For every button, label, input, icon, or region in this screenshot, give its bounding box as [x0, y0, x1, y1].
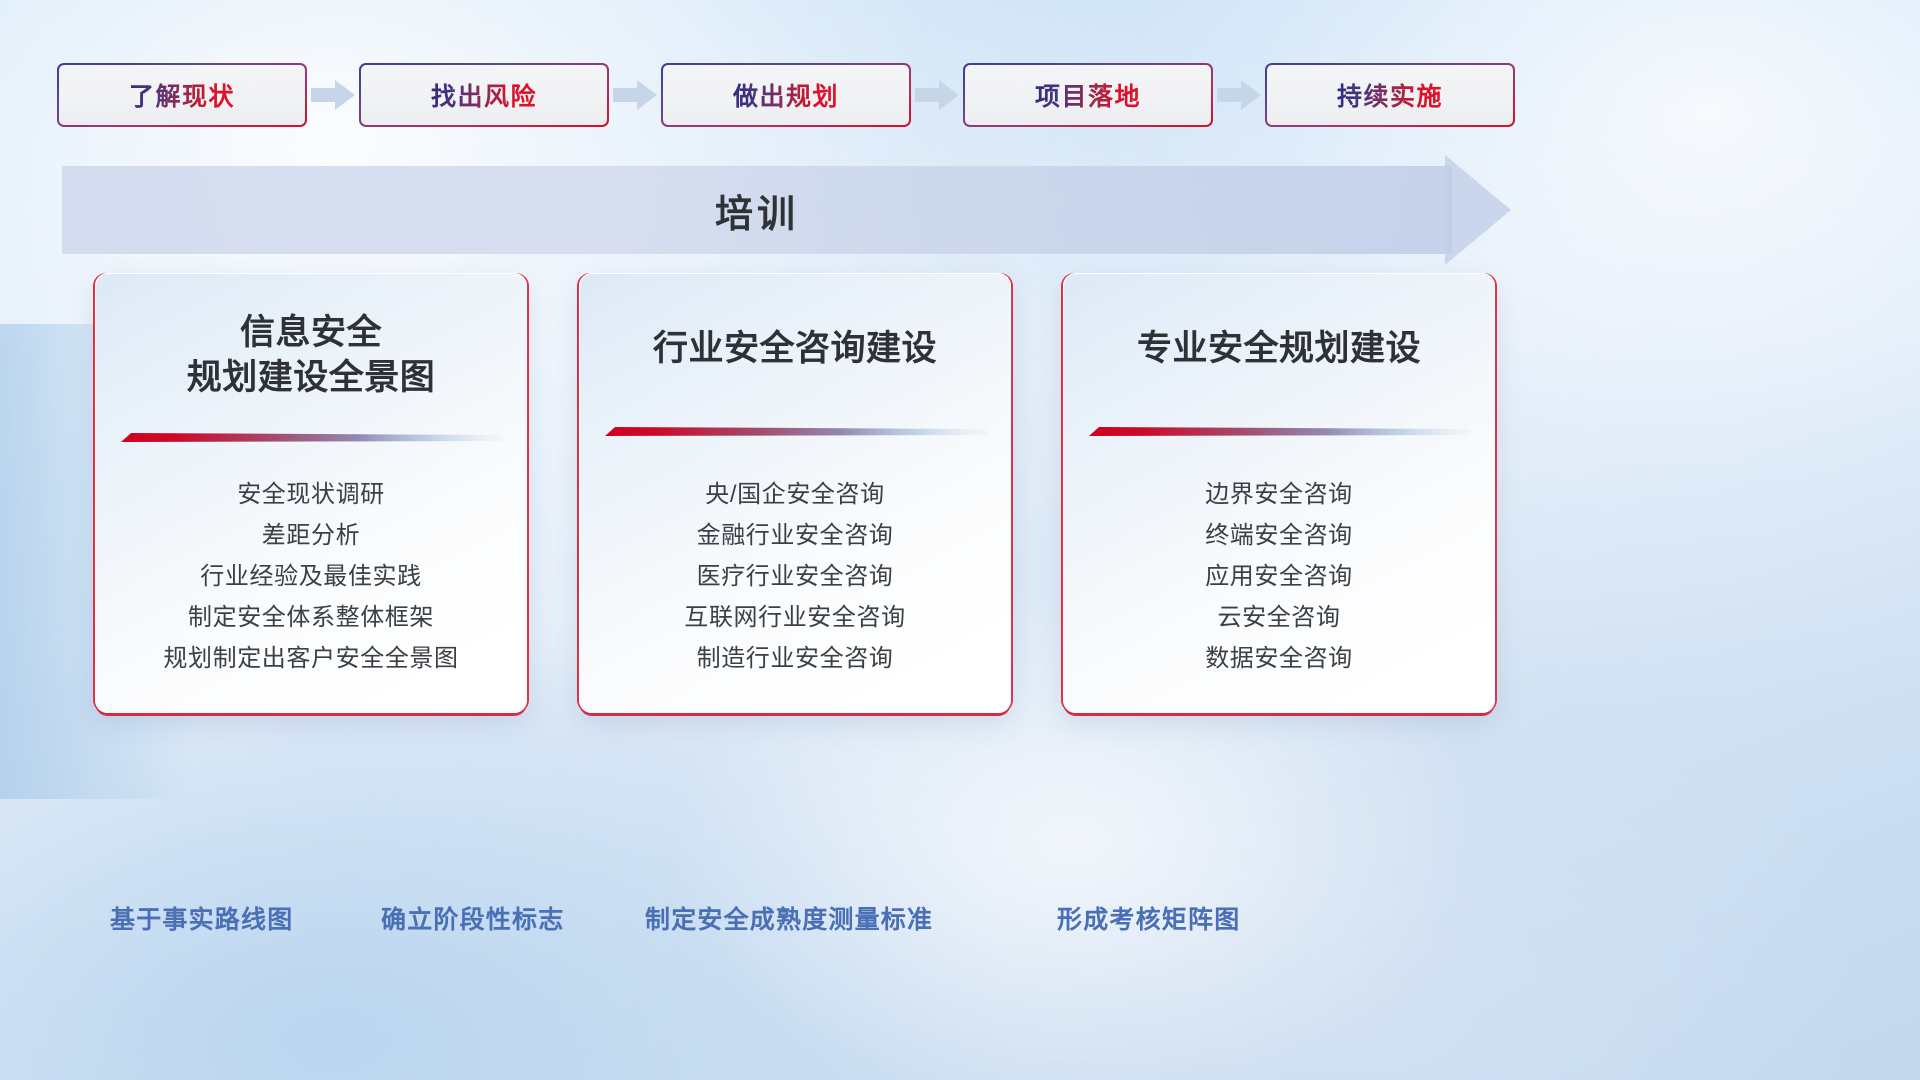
step-box-3-inner: 做出规划	[663, 65, 909, 125]
service-card-1-item-list: 安全现状调研 差距分析 行业经验及最佳实践 制定安全体系整体框架 规划制定出客户…	[95, 474, 527, 679]
step-arrow-3	[911, 78, 963, 112]
step-label-4: 项目落地	[1035, 77, 1141, 113]
arrow-right-icon	[611, 78, 659, 112]
step-label-5: 持续实施	[1337, 77, 1443, 113]
step-box-4[interactable]: 项目落地	[963, 63, 1213, 127]
outcome-caption-4: 形成考核矩阵图	[1057, 900, 1240, 936]
step-box-4-inner: 项目落地	[965, 65, 1211, 125]
list-item: 央/国企安全咨询	[705, 474, 884, 515]
step-box-2[interactable]: 找出风险	[359, 63, 609, 127]
list-item: 金融行业安全咨询	[697, 515, 894, 556]
step-label-2: 找出风险	[431, 77, 537, 113]
service-card-1[interactable]: 信息安全 规划建设全景图 安全现状调研 差距分析 行	[95, 273, 527, 713]
gradient-divider-icon	[1089, 425, 1471, 439]
step-label-3: 做出规划	[733, 77, 839, 113]
step-arrow-2	[609, 78, 661, 112]
step-box-1-inner: 了解现状	[59, 65, 305, 125]
service-card-3-item-list: 边界安全咨询 终端安全咨询 应用安全咨询 云安全咨询 数据安全咨询	[1063, 474, 1495, 679]
outcome-caption-3: 制定安全成熟度测量标准	[645, 900, 933, 936]
service-card-1-divider	[121, 431, 503, 445]
service-card-row: 信息安全 规划建设全景图 安全现状调研 差距分析 行	[95, 273, 1495, 713]
outcome-caption-row: 基于事实路线图 确立阶段性标志 制定安全成熟度测量标准 形成考核矩阵图	[0, 900, 1920, 960]
service-card-3-title: 专业安全规划建设	[1063, 327, 1495, 372]
service-card-2-divider	[605, 425, 987, 439]
list-item: 应用安全咨询	[1205, 556, 1353, 597]
training-banner: 培训	[62, 166, 1515, 254]
list-item: 制造行业安全咨询	[697, 638, 894, 679]
list-item: 行业经验及最佳实践	[200, 556, 421, 597]
gradient-divider-icon	[121, 431, 503, 445]
arrow-right-icon	[1215, 78, 1263, 112]
step-arrow-1	[307, 78, 359, 112]
list-item: 终端安全咨询	[1205, 515, 1353, 556]
service-card-2[interactable]: 行业安全咨询建设 央/国企安全咨询 金融行业安全咨询	[579, 273, 1011, 713]
list-item: 边界安全咨询	[1205, 474, 1353, 515]
service-card-3-divider	[1089, 425, 1471, 439]
list-item: 差距分析	[262, 515, 360, 556]
service-card-2-item-list: 央/国企安全咨询 金融行业安全咨询 医疗行业安全咨询 互联网行业安全咨询 制造行…	[579, 474, 1011, 679]
step-box-3[interactable]: 做出规划	[661, 63, 911, 127]
outcome-caption-2: 确立阶段性标志	[381, 900, 564, 936]
training-banner-arrow	[1445, 155, 1515, 265]
list-item: 安全现状调研	[237, 474, 385, 515]
step-box-5-inner: 持续实施	[1267, 65, 1513, 125]
step-label-1: 了解现状	[129, 77, 235, 113]
training-banner-title: 培训	[62, 166, 1452, 254]
step-box-1[interactable]: 了解现状	[57, 63, 307, 127]
process-step-row: 了解现状 找出风险 做出规划 项目落地	[57, 62, 1515, 128]
step-box-5[interactable]: 持续实施	[1265, 63, 1515, 127]
list-item: 互联网行业安全咨询	[684, 597, 905, 638]
outcome-caption-1: 基于事实路线图	[110, 900, 293, 936]
list-item: 规划制定出客户安全全景图	[163, 638, 458, 679]
arrow-right-icon	[309, 78, 357, 112]
list-item: 数据安全咨询	[1205, 638, 1353, 679]
list-item: 制定安全体系整体框架	[188, 597, 434, 638]
list-item: 云安全咨询	[1218, 597, 1341, 638]
service-card-2-title: 行业安全咨询建设	[579, 327, 1011, 372]
gradient-divider-icon	[605, 425, 987, 439]
step-box-2-inner: 找出风险	[361, 65, 607, 125]
list-item: 医疗行业安全咨询	[697, 556, 894, 597]
arrow-right-banner-icon	[1445, 155, 1515, 265]
arrow-right-icon	[913, 78, 961, 112]
step-arrow-4	[1213, 78, 1265, 112]
service-card-3[interactable]: 专业安全规划建设 边界安全咨询 终端安全咨询 应用安	[1063, 273, 1495, 713]
service-card-1-title: 信息安全 规划建设全景图	[95, 311, 527, 401]
